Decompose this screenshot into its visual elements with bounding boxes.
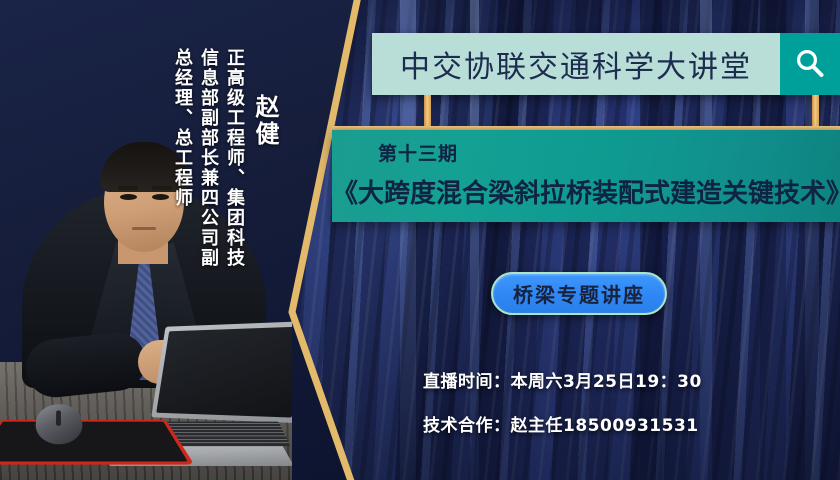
- technical-contact-text: 技术合作：赵主任18500931531: [423, 411, 699, 436]
- eye-right: [152, 194, 169, 200]
- topic-title: 《大跨度混合梁斜拉桥装配式建造关键技术》: [332, 173, 840, 210]
- eyebrow-left: [118, 186, 138, 190]
- header-title: 中交协联交通科学大讲堂: [400, 42, 752, 86]
- subtitle-banner: 第十三期 《大跨度混合梁斜拉桥装配式建造关键技术》: [332, 130, 840, 222]
- category-badge-label: 桥梁专题讲座: [513, 279, 645, 308]
- eye-left: [120, 194, 137, 200]
- header-sign-plate: 中交协联交通科学大讲堂: [372, 33, 780, 95]
- category-badge[interactable]: 桥梁专题讲座: [491, 272, 667, 315]
- broadcast-time-text: 直播时间：本周六3月25日19：30: [423, 367, 702, 392]
- speaker-portrait-photo: [0, 108, 292, 480]
- speaker-name: 赵健: [247, 94, 282, 148]
- episode-label: 第十三期: [332, 139, 840, 166]
- mouse-pad: [0, 420, 194, 465]
- eyebrow-right: [152, 186, 172, 190]
- speaker-credential-line-2: 信息部副部长兼四公司副: [196, 48, 222, 268]
- poster-root: 赵健 正高级工程师、集团科技 信息部副部长兼四公司副 总经理、总工程师 中交协联…: [0, 0, 840, 480]
- speaker-credential-line-3: 总经理、总工程师: [170, 48, 196, 208]
- mouth: [132, 227, 156, 230]
- header-sign-board: 中交协联交通科学大讲堂: [372, 33, 840, 95]
- laptop-screen: [151, 321, 292, 423]
- speaker-credential-line-1: 正高级工程师、集团科技: [222, 48, 248, 268]
- search-icon[interactable]: [780, 33, 840, 95]
